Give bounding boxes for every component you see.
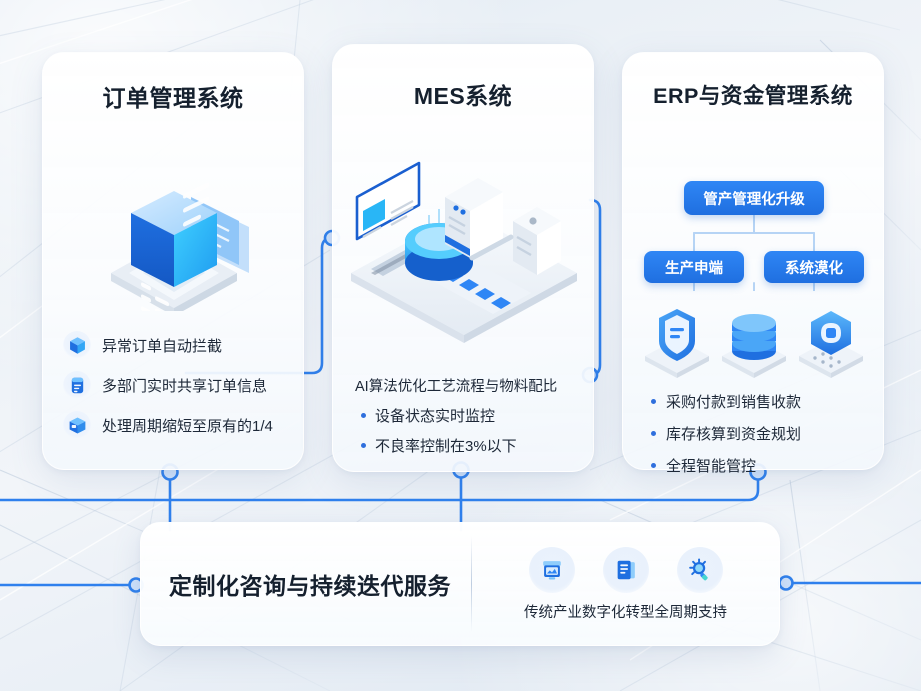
list-item-label: 库存核算到资金规划: [666, 423, 801, 444]
bottom-bar-icon-row: [529, 547, 723, 593]
list-item[interactable]: 全程智能管控: [651, 455, 869, 476]
list-item-label: 采购付款到销售收款: [666, 391, 801, 412]
flow-diagram: 管产管理化升级 生产申端 系统漠化: [623, 181, 883, 291]
bullet-dot-icon: [651, 463, 656, 468]
card-order-management[interactable]: 订单管理系统: [42, 52, 304, 470]
feature-list: 异常订单自动拦截 多部门实时共享订单信息: [63, 325, 289, 445]
flow-box-right[interactable]: 系统漠化: [764, 251, 864, 283]
list-item-label: 设备状态实时监控: [375, 405, 495, 426]
bullet-dot-icon: [361, 443, 366, 448]
bullet-dot-icon: [651, 399, 656, 404]
list-item-label: 全程智能管控: [666, 455, 756, 476]
mes-lead-text: AI算法优化工艺流程与物料配比: [355, 375, 579, 396]
flow-box-top[interactable]: 管产管理化升级: [684, 181, 824, 215]
bottom-bar-title: 定制化咨询与持续迭代服务: [141, 567, 471, 601]
list-item[interactable]: 多部门实时共享订单信息: [63, 365, 289, 405]
list-item[interactable]: 异常订单自动拦截: [63, 325, 289, 365]
list-item[interactable]: 采购付款到销售收款: [651, 391, 869, 412]
bottom-bar-caption: 传统产业数字化转型全周期支持: [524, 601, 727, 622]
isometric-factory-line-icon: [341, 157, 585, 347]
list-item[interactable]: 不良率控制在3%以下: [361, 435, 579, 456]
card-title: 订单管理系统: [43, 79, 303, 113]
list-item-label: 多部门实时共享订单信息: [102, 375, 267, 396]
clipboard-icon: [63, 371, 91, 399]
monitor-chart-icon[interactable]: [529, 547, 575, 593]
erp-node-icons: [637, 301, 869, 381]
bottom-bar-content: 传统产业数字化转型全周期支持: [472, 547, 779, 622]
list-item[interactable]: 设备状态实时监控: [361, 405, 579, 426]
bullet-dot-icon: [361, 413, 366, 418]
flow-box-left[interactable]: 生产申端: [644, 251, 744, 283]
mes-description: AI算法优化工艺流程与物料配比 设备状态实时监控 不良率控制在3%以下: [355, 375, 579, 465]
card-title: ERP与资金管理系统: [623, 79, 883, 110]
list-item[interactable]: 处理周期缩短至原有的1/4: [63, 405, 289, 445]
documents-icon[interactable]: [603, 547, 649, 593]
card-erp-finance-system[interactable]: ERP与资金管理系统 管产管理化升级 生产申端 系统漠化: [622, 52, 884, 470]
bullet-dot-icon: [651, 431, 656, 436]
list-item-label: 处理周期缩短至原有的1/4: [102, 415, 273, 436]
isometric-server-cube-icon: [43, 161, 303, 311]
infographic-canvas: 订单管理系统: [0, 0, 921, 691]
list-item-label: 不良率控制在3%以下: [375, 435, 517, 456]
bottom-service-bar[interactable]: 定制化咨询与持续迭代服务: [140, 522, 780, 646]
card-mes-system[interactable]: MES系统: [332, 44, 594, 472]
cube-icon: [63, 331, 91, 359]
card-title: MES系统: [333, 77, 593, 111]
archive-box-icon: [63, 411, 91, 439]
erp-bullet-list: 采购付款到销售收款 库存核算到资金规划 全程智能管控: [651, 391, 869, 487]
search-analysis-icon[interactable]: [677, 547, 723, 593]
list-item[interactable]: 库存核算到资金规划: [651, 423, 869, 444]
list-item-label: 异常订单自动拦截: [102, 335, 222, 356]
